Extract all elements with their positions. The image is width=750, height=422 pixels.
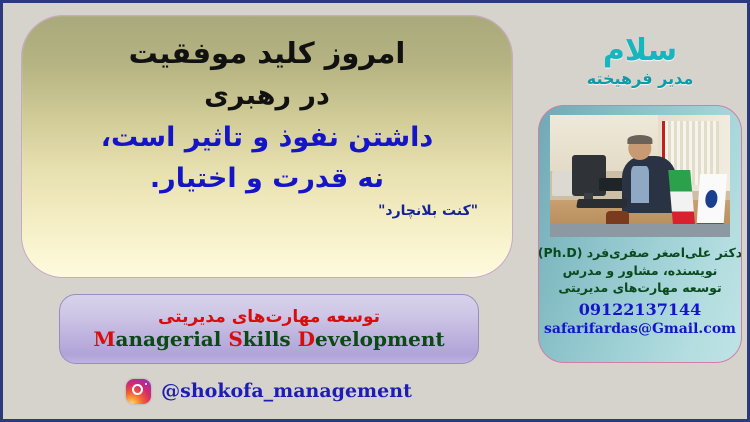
quote-attribution: "کنت بلانچارد" (378, 203, 478, 219)
profile-card: دکتر علی‌اصغر صفری‌فرد (Ph.D) نویسنده، م… (538, 105, 742, 363)
instagram-handle[interactable]: @shokofa_management (161, 380, 412, 402)
photo-person-hair (627, 135, 652, 145)
poster-canvas: امروز کلید موفقیت در رهبری داشتن نفوذ و … (0, 0, 750, 422)
quote-card: امروز کلید موفقیت در رهبری داشتن نفوذ و … (21, 15, 513, 278)
instagram-icon[interactable] (126, 379, 151, 404)
quote-line-4: نه قدرت و اختیار. (48, 164, 486, 193)
portrait-photo (550, 115, 730, 237)
contact-details: دکتر علی‌اصغر صفری‌فرد (Ph.D) نویسنده، م… (546, 245, 734, 337)
photo-desk-front (550, 224, 730, 237)
brand-cap-d: D (298, 327, 315, 351)
quote-line-1: امروز کلید موفقیت (48, 38, 486, 69)
quote-line-3: داشتن نفوذ و تاثیر است، (48, 123, 486, 152)
brand-cap-m: M (93, 327, 115, 351)
photo-person-shirt (631, 166, 649, 203)
photo-keyboard (576, 199, 628, 208)
contact-role: نویسنده، مشاور و مدرس (563, 263, 718, 279)
contact-email[interactable]: safarifardas@Gmail.com (544, 321, 736, 337)
contact-field: توسعه مهارت‌های مدیریتی (558, 280, 721, 296)
brand-logo: سلام مدیر فرهیخته (537, 13, 743, 105)
photo-desk-phone (599, 178, 624, 190)
brand-banner: توسعه مهارت‌های مدیریتی Managerial Skill… (59, 294, 479, 364)
logo-subtitle-text: مدیر فرهیخته (587, 71, 694, 87)
contact-phone[interactable]: 09122137144 (579, 300, 701, 319)
brand-title-english: Managerial Skills Development (93, 328, 444, 350)
logo-salam-text: سلام (603, 36, 677, 66)
brand-word-managerial: anagerial (115, 327, 221, 351)
brand-cap-s: S (228, 327, 242, 351)
social-row[interactable]: @shokofa_management (59, 374, 479, 408)
brand-word-skills: kills (243, 327, 291, 351)
contact-name: دکتر علی‌اصغر صفری‌فرد (Ph.D) (538, 245, 742, 261)
right-panel: سلام مدیر فرهیخته (537, 13, 743, 413)
brand-word-development: evelopment (315, 327, 445, 351)
quote-line-2: در رهبری (48, 81, 486, 110)
brand-title-farsi: توسعه مهارت‌های مدیریتی (158, 308, 380, 327)
